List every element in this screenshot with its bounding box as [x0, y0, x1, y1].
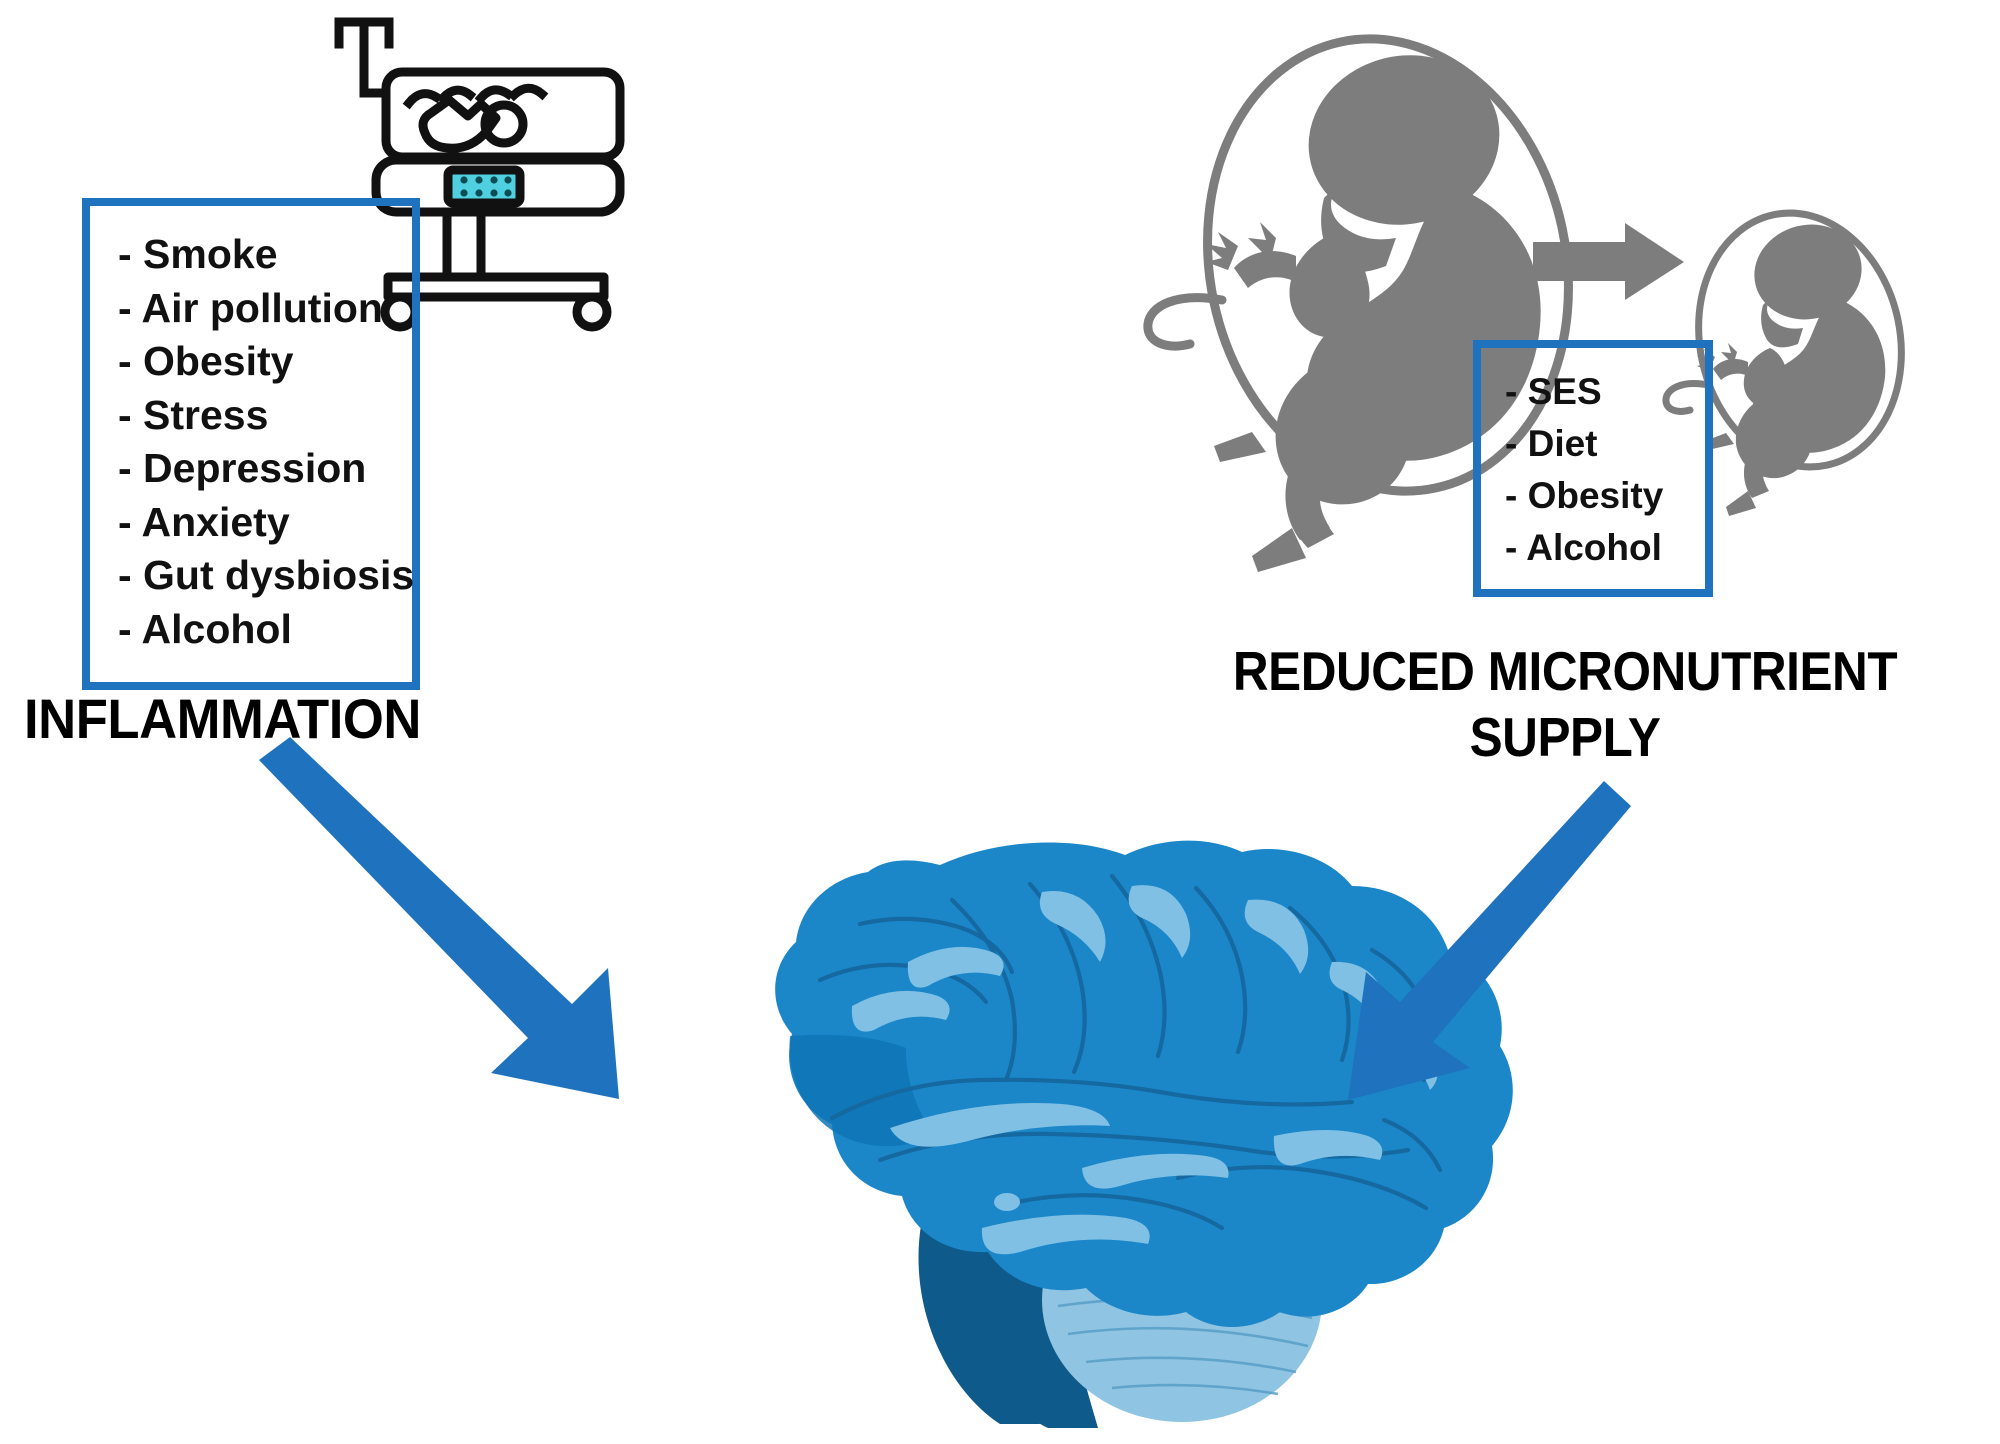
list-item: - Obesity [1505, 470, 1705, 522]
list-item: - Smoke [118, 228, 412, 282]
micronutrient-to-brain-arrow [1348, 781, 1631, 1100]
list-item: - Alcohol [1505, 522, 1705, 574]
inflammation-factors-box: - Smoke - Air pollution - Obesity - Stre… [82, 198, 420, 690]
list-item: - Anxiety [118, 496, 412, 550]
list-item: - Obesity [118, 335, 412, 389]
list-item: - SES [1505, 366, 1705, 418]
micronutrient-caption-line2: SUPPLY [1183, 704, 1948, 770]
micronutrient-factor-list: - SES - Diet - Obesity - Alcohol [1481, 348, 1705, 574]
list-item: - Depression [118, 442, 412, 496]
list-item: - Diet [1505, 418, 1705, 470]
list-item: - Stress [118, 389, 412, 443]
inflammation-caption: INFLAMMATION [24, 688, 421, 750]
list-item: - Gut dysbiosis [118, 549, 412, 603]
micronutrient-caption: REDUCED MICRONUTRIENT SUPPLY [1183, 638, 1948, 770]
inflammation-to-brain-arrow [259, 737, 619, 1099]
figure-canvas: - Smoke - Air pollution - Obesity - Stre… [0, 0, 2000, 1444]
inflammation-factor-list: - Smoke - Air pollution - Obesity - Stre… [90, 206, 412, 656]
list-item: - Alcohol [118, 603, 412, 657]
list-item: - Air pollution [118, 282, 412, 336]
micronutrient-factors-box: - SES - Diet - Obesity - Alcohol [1473, 340, 1713, 597]
micronutrient-caption-line1: REDUCED MICRONUTRIENT [1183, 638, 1948, 704]
